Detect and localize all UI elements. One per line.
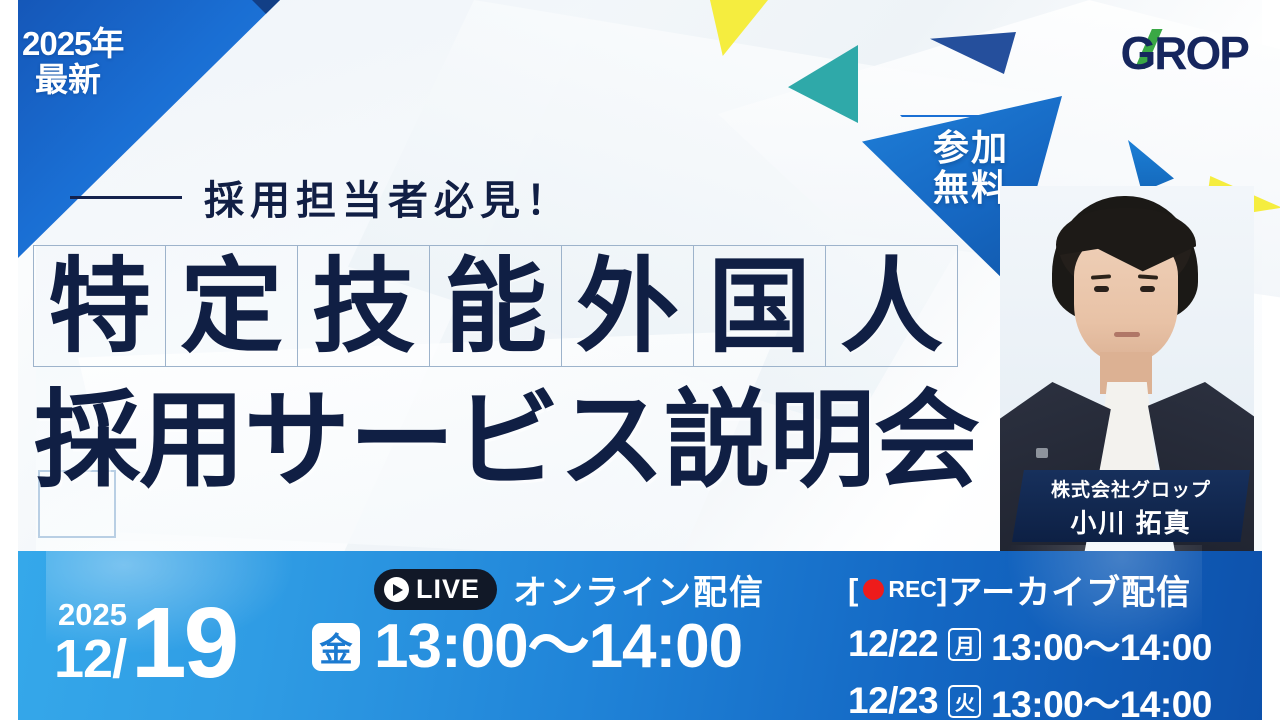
event-year: 2025 [58,599,127,630]
speaker-nameplate: 株式会社グロップ 小川 拓真 [1012,470,1250,542]
weekday-chip: 金 [312,623,360,671]
event-date-block: 2025 12/ 19 [18,551,304,720]
kicker: 採用担当者必見！ [70,168,572,226]
rec-label: REC [888,576,937,603]
archive-title-row: [ REC ] アーカイブ配信 [848,565,1262,614]
live-label: オンライン配信 [513,565,765,614]
rec-bracket-close: ] [937,572,948,608]
archive-time-0: 13:00〜14:00 [991,617,1212,671]
boxed-char-3: 能 [429,245,562,367]
event-month: 12/ [54,632,127,686]
corner-latest: 最新 [35,62,192,98]
live-badge: LIVE [374,569,497,610]
free-badge-line1: 参加 [906,128,1036,168]
logo-text: GROP [1121,27,1248,79]
archive-date-1: 12/23 [848,680,938,720]
boxed-char-4: 外 [561,245,694,367]
photo-eye-right [1140,286,1155,292]
boxed-char-2: 技 [297,245,430,367]
event-day: 19 [131,600,236,686]
boxed-char-5: 国 [693,245,826,367]
play-icon [384,577,409,602]
schedule-bar: 2025 12/ 19 LIVE オンライン配信 金 13:00〜14:00 [18,551,1262,720]
rec-bracket-open: [ [848,572,859,608]
archive-time-1: 13:00〜14:00 [991,674,1212,720]
photo-mouth [1114,332,1140,337]
archive-weekday-chip-1: 火 [948,685,981,718]
boxed-char-0: 特 [33,245,166,367]
live-session-block: LIVE オンライン配信 金 13:00〜14:00 [304,551,842,720]
rec-badge: [ REC ] [848,572,948,608]
corner-year: 2025年 [22,26,192,62]
archive-rows: 12/22月13:00〜14:0012/23火13:00〜14:00 [848,617,1262,720]
corner-ribbon-text: 2025年 最新 [22,26,192,97]
rec-dot-icon [863,579,884,600]
grop-logo: GROP [1121,26,1248,80]
archive-row: 12/23火13:00〜14:00 [848,674,1262,720]
poster-canvas: 2025年 最新 GROP 参加 無料 株式会社グロップ 小川 拓真 [0,0,1280,720]
speaker-name: 小川 拓真 [1012,503,1250,540]
photo-eye-left [1094,286,1109,292]
page-title: 採用サービス説明会 [34,382,979,501]
kicker-rule [70,196,182,199]
live-badge-label: LIVE [416,574,480,605]
boxed-char-6: 人 [825,245,958,367]
archive-weekday-chip-0: 月 [948,628,981,661]
archive-title: アーカイブ配信 [948,565,1191,614]
boxed-char-1: 定 [165,245,298,367]
archive-row: 12/22月13:00〜14:00 [848,617,1262,671]
kicker-text: 採用担当者必見！ [204,168,572,226]
speaker-company: 株式会社グロップ [1012,475,1250,502]
live-time: 13:00〜14:00 [374,616,742,678]
archive-block: [ REC ] アーカイブ配信 12/22月13:00〜14:0012/23火1… [842,551,1262,720]
archive-date-0: 12/22 [848,623,938,665]
boxed-title-row: 特定技能外国人 [33,245,957,367]
photo-lapel-pin-icon [1036,448,1048,458]
